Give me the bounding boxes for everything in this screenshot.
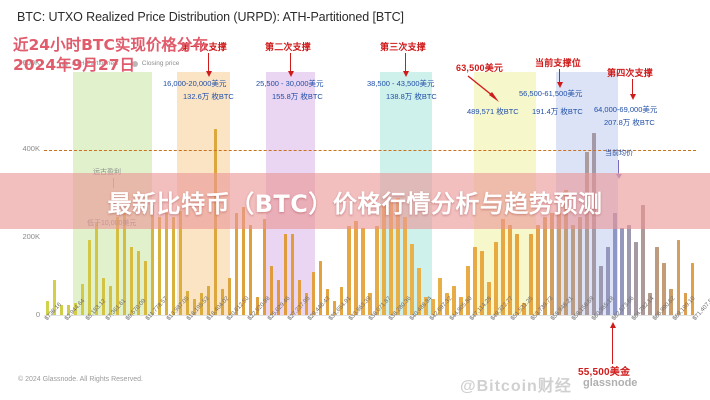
annotation-support-4-head: 第四次支撑 [607, 66, 653, 79]
bar [515, 234, 519, 316]
cn-overlay-title-line1: 近24小时BTC实现价格分布 [13, 36, 208, 54]
watermark-text: @Bitcoin财经 [460, 372, 572, 396]
bar [375, 226, 379, 316]
copyright-footer: © 2024 Glassnode. All Rights Reserved. [18, 376, 143, 383]
bar [410, 244, 414, 316]
annotation-support-4-arrow-icon [632, 79, 633, 95]
y-tick-200k: 200K [6, 232, 40, 241]
chart-title: BTC: UTXO Realized Price Distribution (U… [17, 10, 404, 24]
annotation-support-1-arrow-icon [208, 53, 209, 72]
bar [578, 217, 582, 316]
cn-overlay-title: 近24小时BTC实现价格分布 2024年9月27日 [13, 35, 208, 75]
annotation-price-63500-amount: 489,571 枚BTC [467, 106, 519, 117]
y-tick-0: 0 [6, 310, 40, 319]
y-tick-400k: 400K [6, 144, 40, 153]
chart-screenshot: BTC: UTXO Realized Price Distribution (U… [0, 0, 710, 400]
annotation-support-4-range: 64,000-69,000美元 [594, 104, 657, 115]
annotation-support-3-head: 第三次支撑 [380, 40, 426, 53]
annotation-current-support-head: 当前支撑位 [535, 56, 581, 69]
bar [354, 221, 358, 316]
annotation-support-1-range: 16,000-20,000美元 [163, 78, 226, 89]
note-current-avg: 当前均价 [605, 148, 633, 158]
bottom-annotation-arrow-icon [612, 328, 613, 364]
bar [473, 247, 477, 316]
annotation-support-2-arrow-icon [290, 53, 291, 72]
annotation-support-3-range: 38,500 - 43,500美元 [367, 78, 435, 89]
annotation-support-2-head: 第二次支撑 [265, 40, 311, 53]
bar [691, 263, 695, 316]
current-avg-arrow-icon [618, 160, 619, 174]
bar [270, 266, 274, 316]
annotation-support-3-amount: 138.8万 枚BTC [386, 91, 437, 102]
annotation-support-4-amount: 207.8万 枚BTC [604, 117, 655, 128]
bar [249, 225, 253, 317]
ath-reference-line [44, 150, 696, 151]
bar [172, 217, 176, 316]
bottom-annotation-label: 55,500美金 [578, 363, 630, 378]
annotation-current-support-range: 56,500-61,500美元 [519, 88, 582, 99]
bar [655, 247, 659, 316]
bar [677, 240, 681, 316]
bar [130, 247, 134, 316]
annotation-support-3-arrow-icon [405, 53, 406, 72]
annotation-current-support-arrow-icon [559, 69, 560, 83]
bar [634, 242, 638, 316]
annotation-support-2-range: 25,500 - 30,000美元 [256, 78, 324, 89]
annotation-support-2-amount: 155.8万 枚BTC [272, 91, 323, 102]
bar [536, 225, 540, 317]
annotation-current-support-amount: 191.4万 枚BTC [532, 106, 583, 117]
bar [494, 242, 498, 316]
bar [466, 266, 470, 316]
brand-watermark: glassnode [583, 377, 637, 389]
bar [88, 240, 92, 316]
cn-overlay-title-line2: 2024年9月27日 [13, 55, 208, 75]
bar [144, 261, 148, 316]
bar [291, 234, 295, 316]
banner-title: 最新比特币（BTC）价格行情分析与趋势预测 [0, 173, 710, 229]
annotation-price-63500-arrow-icon [466, 74, 502, 104]
annotation-support-1-amount: 132.6万 枚BTC [183, 91, 234, 102]
annotation-price-63500-head: 63,500美元 [456, 61, 503, 74]
